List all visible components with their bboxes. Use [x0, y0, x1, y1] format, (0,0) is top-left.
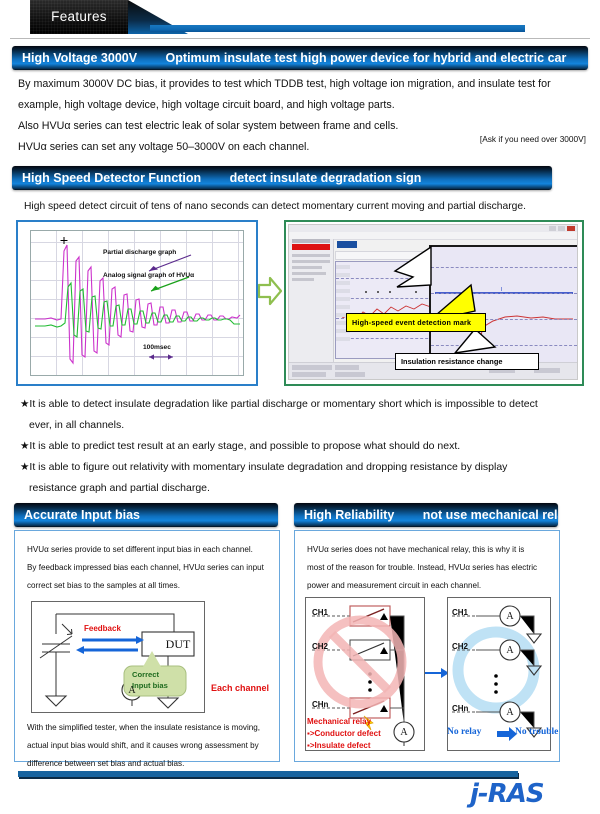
bubble-line-2: Input bias — [132, 681, 168, 690]
section-header-high-speed-detector: High Speed Detector Function detect insu… — [12, 166, 552, 190]
section1-paragraph: By maximum 3000V DC bias, it provides to… — [18, 74, 580, 158]
panel-accurate-input-bias: HVUα series provide to set different inp… — [14, 530, 280, 762]
header-grey-rule — [10, 38, 590, 39]
no-relay-label: No relay — [447, 727, 481, 737]
no-trouble-label: No trouble — [515, 727, 558, 737]
green-arrow-icon — [258, 276, 282, 306]
diagram-input-bias: DUT A Feedback Correct Input bias — [31, 601, 205, 713]
pane-row — [292, 260, 330, 263]
section1-title: High Voltage 3000V — [12, 46, 137, 70]
software-window: I High-speed event detection mark Insula… — [288, 224, 578, 380]
section1-note: [Ask if you need over 3000V] — [480, 134, 586, 144]
pane-row — [292, 254, 330, 257]
bullet-3-text: It is able to figure out relativity with… — [29, 461, 507, 473]
label-partial-discharge-graph: Partial discharge graph — [103, 249, 176, 256]
panel-left-text-bottom: With the simplified tester, when the ins… — [27, 719, 267, 773]
good-channel-label-2: CH2 — [452, 642, 468, 651]
section2-title: High Speed Detector Function — [12, 166, 201, 190]
company-logo: j-RAS — [470, 779, 544, 809]
panel-right-title: High Reliability — [294, 503, 394, 527]
callout-high-speed-event: High-speed event detection mark — [346, 313, 486, 332]
bad-label-1: Mechanical relay — [307, 717, 371, 726]
software-chart-front: I — [429, 245, 578, 365]
feature-bullet-list: ★It is able to detect insulate degradati… — [20, 394, 582, 499]
section2-subtitle: detect insulate degradation sign — [206, 166, 422, 190]
panel-right-top-line-3: power and measurement circuit in each ch… — [307, 577, 547, 595]
bullet-1-star: ★ — [20, 398, 29, 410]
figure-oscilloscope: Partial discharge graph Analog signal gr… — [16, 220, 258, 386]
panel-high-reliability: HVUα series does not have mechanical rel… — [294, 530, 560, 762]
bullet-3-line-2: resistance graph and partial discharge. — [20, 478, 582, 499]
panel-right-subtitle: not use mechanical relay — [399, 503, 558, 527]
bullet-3-line-1: ★It is able to figure out relativity wit… — [20, 457, 582, 478]
bullet-3-star: ★ — [20, 461, 29, 473]
bad-label-3: ▪>Insulate defect — [307, 741, 371, 750]
bad-label-2: ▪>Conductor defect — [307, 729, 381, 738]
panel-left-bottom-line-2: actual input bias would shift, and it ca… — [27, 737, 267, 755]
bullet-2-star: ★ — [20, 440, 29, 452]
ammeter-label-chn: A — [505, 707, 515, 718]
figure-software-screenshot: I High-speed event detection mark Insula… — [284, 220, 584, 386]
relay-channel-label-n: CHn — [312, 700, 328, 709]
callout-insulation-resistance: Insulation resistance change — [395, 353, 539, 370]
header-blue-rule — [150, 25, 525, 32]
section-header-high-reliability: High Reliability not use mechanical rela… — [294, 503, 558, 527]
each-channel-label: Each channel — [211, 683, 269, 693]
bullet-1-line-2: ever, in all channels. — [20, 415, 582, 436]
section1-line-1: By maximum 3000V DC bias, it provides to… — [18, 74, 580, 95]
ammeter-label-relay: A — [399, 727, 409, 738]
software-primary-button[interactable] — [337, 241, 357, 248]
panel-right-top-line-2: most of the reason for trouble. Instead,… — [307, 559, 547, 577]
section-header-accurate-input-bias: Accurate Input bias — [14, 503, 278, 527]
features-tab-label[interactable]: Features — [30, 0, 128, 34]
result-arrow-icon — [497, 727, 517, 741]
label-timebase: 100msec — [143, 344, 171, 351]
panel-left-top-line-3: correct set bias to the samples at all t… — [27, 577, 267, 595]
status-grey-bar — [292, 239, 330, 243]
dut-label: DUT — [152, 637, 204, 652]
bullet-1-text: It is able to detect insulate degradatio… — [29, 398, 537, 410]
diagram-mechanical-relay: CH1 CH2 CHn A — [305, 597, 425, 751]
panel-right-top-line-1: HVUα series does not have mechanical rel… — [307, 541, 547, 559]
panel-right-text-top: HVUα series does not have mechanical rel… — [307, 541, 547, 595]
relay-channel-label-2: CH2 — [312, 642, 328, 651]
pane-row — [292, 278, 314, 281]
good-channel-label-n: CHn — [452, 704, 468, 713]
status-red-bar — [292, 244, 330, 250]
window-controls-icon — [549, 226, 575, 231]
label-analog-signal-graph: Analog signal graph of HVUα — [103, 272, 194, 279]
section-header-high-voltage: High Voltage 3000V Optimum insulate test… — [12, 46, 588, 70]
good-channel-label-1: CH1 — [452, 608, 468, 617]
feedback-label: Feedback — [84, 624, 121, 633]
panel-left-bottom-line-1: With the simplified tester, when the ins… — [27, 719, 267, 737]
diagram-input-bias-svg — [32, 602, 204, 712]
pane-row — [292, 266, 322, 269]
top-tab-bar: Features — [0, 0, 600, 34]
pane-row — [292, 272, 326, 275]
bullet-2-line-1: ★It is able to predict test result at an… — [20, 436, 582, 457]
ammeter-label-ch1: A — [505, 611, 515, 622]
section1-line-2: example, high voltage device, high volta… — [18, 95, 580, 116]
transition-arrow-icon — [425, 667, 449, 679]
panel-left-top-line-1: HVUα series provide to set different inp… — [27, 541, 267, 559]
ammeter-label-ch2: A — [505, 645, 515, 656]
panel-left-top-line-2: By feedback impressed bias each channel,… — [27, 559, 267, 577]
section2-lead-text: High speed detect circuit of tens of nan… — [24, 196, 580, 217]
bullet-2-text: It is able to predict test result at an … — [29, 440, 460, 452]
panel-left-text-top: HVUα series provide to set different inp… — [27, 541, 267, 595]
bubble-line-1: Correct — [132, 670, 159, 679]
section1-subtitle: Optimum insulate test high power device … — [142, 46, 567, 70]
panel-left-title: Accurate Input bias — [14, 503, 140, 527]
bullet-1-line-1: ★It is able to detect insulate degradati… — [20, 394, 582, 415]
footer-rule — [18, 771, 518, 777]
relay-channel-label-1: CH1 — [312, 608, 328, 617]
scope-plot-area: Partial discharge graph Analog signal gr… — [30, 230, 244, 376]
software-left-pane — [289, 239, 334, 379]
